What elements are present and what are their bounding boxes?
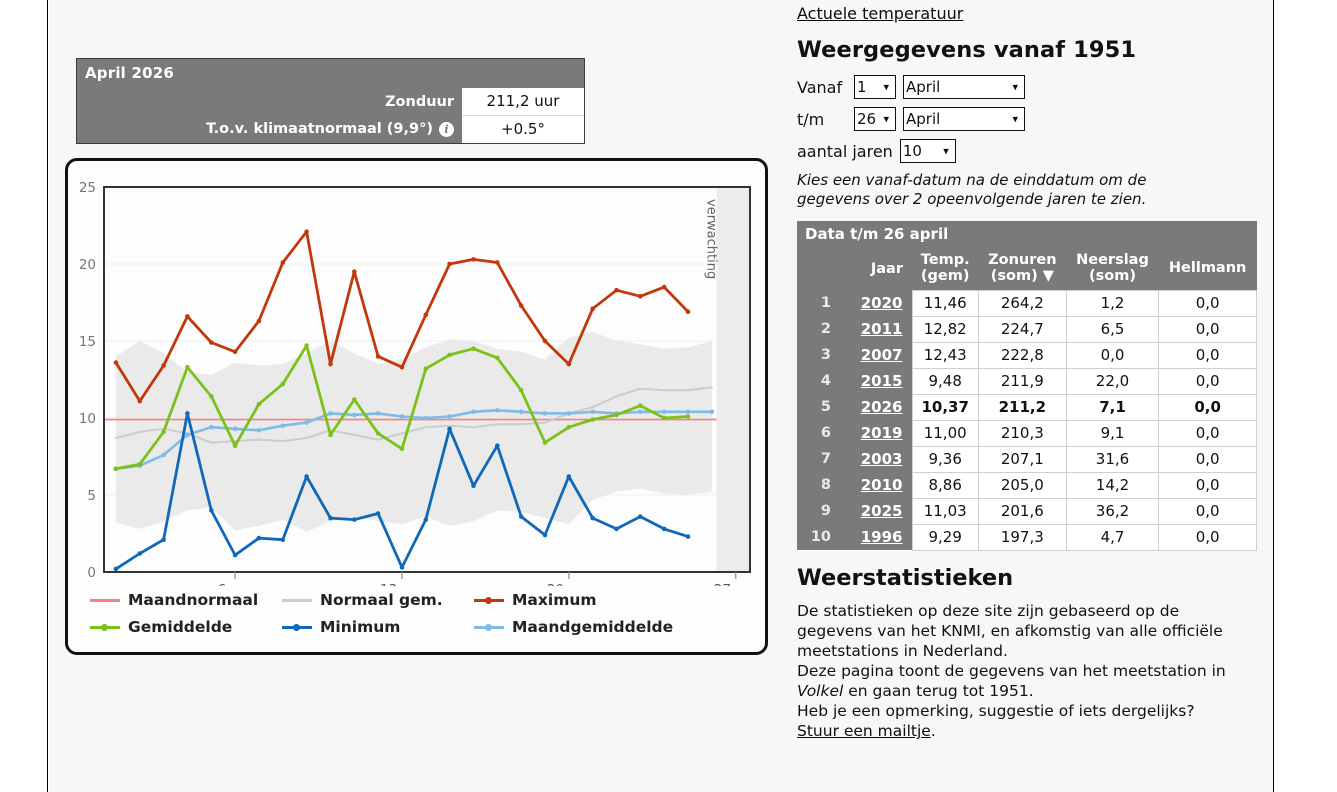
col-header-zonuren-line2-sorted: (som) ▼: [991, 268, 1054, 284]
chart-point-gemiddelde: [590, 417, 595, 422]
cell-zonuren: 197,3: [978, 524, 1066, 550]
summary-row-klimaatnormaal: T.o.v. klimaatnormaal (9,9°) i +0.5°: [77, 116, 584, 143]
col-header-zonuren-line1: Zonuren: [988, 252, 1056, 268]
legend-swatch-maximum: [474, 594, 504, 606]
chart-point-gemiddelde: [209, 394, 214, 399]
chart-point-maandgemiddelde: [590, 410, 595, 415]
legend-item-maandnormaal[interactable]: Maandnormaal: [90, 591, 282, 609]
col-header-temp-line2: (gem): [921, 268, 970, 284]
legend-label-minimum: Minimum: [320, 618, 400, 636]
summary-row-zonduur: Zonduur 211,2 uur: [77, 88, 584, 116]
cell-temp: 9,29: [912, 524, 978, 550]
chart-point-gemiddelde: [424, 366, 429, 371]
cell-zonuren: 264,2: [978, 290, 1066, 316]
heading-weerstatistieken: Weerstatistieken: [797, 565, 1267, 591]
chart-point-maximum: [257, 319, 262, 324]
col-header-neerslag[interactable]: Neerslag (som): [1066, 249, 1159, 290]
table-caption-row: Data t/m 26 april: [797, 221, 1257, 249]
table-row: 820108,86205,014,20,0: [797, 472, 1257, 498]
cell-hellmann: 0,0: [1159, 316, 1257, 342]
chart-point-maximum: [590, 306, 595, 311]
cell-rank: 2: [797, 316, 835, 342]
chart-point-minimum: [638, 514, 643, 519]
about-paragraph-3: Heb je een opmerking, suggestie of iets …: [797, 702, 1195, 720]
cell-zonuren: 222,8: [978, 342, 1066, 368]
chart-ytick-label: 25: [79, 180, 96, 196]
summary-label-zonduur: Zonduur: [77, 88, 462, 116]
cell-rank: 6: [797, 420, 835, 446]
chart-point-minimum: [471, 484, 476, 489]
cell-jaar: 2019: [835, 420, 912, 446]
chart-xtick-label: 6 apr: [217, 582, 253, 586]
weather-data-table: Data t/m 26 april Jaar Temp. (gem) Zonur…: [797, 221, 1257, 550]
chart-point-minimum: [185, 411, 190, 416]
cell-neerslag: 9,1: [1066, 420, 1159, 446]
info-icon[interactable]: i: [439, 122, 454, 137]
cell-rank: 8: [797, 472, 835, 498]
table-caption: Data t/m 26 april: [797, 221, 1257, 249]
chart-point-maandgemiddelde: [638, 410, 643, 415]
cell-temp: 11,03: [912, 498, 978, 524]
cell-neerslag: 7,1: [1066, 394, 1159, 420]
chart-point-maandgemiddelde: [710, 410, 715, 415]
chart-point-maximum: [495, 260, 500, 265]
cell-jaar: 2020: [835, 290, 912, 316]
chart-point-minimum: [424, 517, 429, 522]
chart-point-minimum: [161, 537, 166, 542]
chart-point-maximum: [638, 294, 643, 299]
cell-hellmann: 0,0: [1159, 446, 1257, 472]
select-vanaf-dag[interactable]: 1: [854, 75, 896, 99]
cell-rank: 5: [797, 394, 835, 420]
cell-temp: 11,46: [912, 290, 978, 316]
chart-point-maximum: [138, 399, 143, 404]
summary-label-zonduur-text: Zonduur: [385, 94, 454, 110]
summary-label-klimaatnormaal: T.o.v. klimaatnormaal (9,9°) i: [77, 116, 462, 143]
chart-point-maandgemiddelde: [257, 428, 262, 433]
chart-point-minimum: [614, 527, 619, 532]
chart-point-gemiddelde: [138, 462, 143, 467]
cell-jaar: 2010: [835, 472, 912, 498]
cell-temp: 9,36: [912, 446, 978, 472]
cell-neerslag: 4,7: [1066, 524, 1159, 550]
chart-point-gemiddelde: [114, 467, 119, 472]
legend-item-maandgemiddelde[interactable]: Maandgemiddelde: [474, 618, 674, 636]
chart-point-maandgemiddelde: [209, 425, 214, 430]
chart-point-minimum: [304, 474, 309, 479]
cell-jaar: 2011: [835, 316, 912, 342]
about-text: De statistieken op deze site zijn gebase…: [797, 601, 1257, 742]
cell-jaar: 2007: [835, 342, 912, 368]
legend-item-maximum[interactable]: Maximum: [474, 591, 674, 609]
select-wrap-vanaf-maand: April ▾: [903, 75, 1025, 99]
chart-point-maandgemiddelde: [567, 411, 572, 416]
cell-zonuren: 205,0: [978, 472, 1066, 498]
chart-xtick-label: 20 apr: [547, 582, 591, 586]
legend-label-maandnormaal: Maandnormaal: [128, 591, 258, 609]
chart-point-minimum: [352, 517, 357, 522]
about-paragraph-1: De statistieken op deze site zijn gebase…: [797, 602, 1223, 660]
table-row: 1202011,46264,21,20,0: [797, 290, 1257, 316]
table-body: 1202011,46264,21,20,02201112,82224,76,50…: [797, 290, 1257, 550]
chart-point-minimum: [567, 474, 572, 479]
legend-label-gemiddelde: Gemiddelde: [128, 618, 232, 636]
chart-point-maandgemiddelde: [233, 427, 238, 432]
chart-point-minimum: [281, 537, 286, 542]
cell-zonuren: 201,6: [978, 498, 1066, 524]
chart-point-gemiddelde: [376, 431, 381, 436]
cell-zonuren: 210,3: [978, 420, 1066, 446]
cell-temp: 10,37: [912, 394, 978, 420]
legend-swatch-normaal-gem: [282, 594, 312, 606]
about-paragraph-2-post: en gaan terug tot 1951.: [843, 682, 1033, 700]
cell-neerslag: 0,0: [1066, 342, 1159, 368]
link-jaar[interactable]: 2007: [861, 346, 903, 364]
chart-point-maandgemiddelde: [400, 414, 405, 419]
link-jaar[interactable]: 2011: [861, 320, 903, 338]
chart-ytick-label: 10: [79, 411, 96, 427]
col-header-temp-line1: Temp.: [921, 252, 970, 268]
table-row: 3200712,43222,80,00,0: [797, 342, 1257, 368]
link-jaar[interactable]: 2015: [861, 372, 903, 390]
chart-point-maximum: [424, 313, 429, 318]
chart-point-gemiddelde: [233, 443, 238, 448]
cell-hellmann: 0,0: [1159, 394, 1257, 420]
cell-temp: 12,82: [912, 316, 978, 342]
chart-point-maandgemiddelde: [471, 410, 476, 415]
chart-point-minimum: [495, 443, 500, 448]
chart-point-maximum: [161, 363, 166, 368]
legend-item-normaal-gem[interactable]: Normaal gem.: [282, 591, 474, 609]
link-actuele-temperatuur[interactable]: Actuele temperatuur: [797, 4, 963, 23]
forecast-label: verwachting: [704, 199, 719, 279]
cell-hellmann: 0,0: [1159, 368, 1257, 394]
cell-jaar: 2003: [835, 446, 912, 472]
legend-label-maandgemiddelde: Maandgemiddelde: [512, 618, 673, 636]
chart-point-maandgemiddelde: [686, 410, 691, 415]
chart-point-gemiddelde: [257, 402, 262, 407]
summary-title: April 2026: [77, 59, 584, 88]
chart-point-minimum: [233, 553, 238, 558]
label-vanaf: Vanaf: [797, 78, 854, 97]
chart-xtick-label: 13 apr: [380, 582, 424, 586]
table-row: 1019969,29197,34,70,0: [797, 524, 1257, 550]
page-root: April 2026 Zonduur 211,2 uur T.o.v. klim…: [0, 0, 1337, 792]
chart-point-maximum: [304, 229, 309, 234]
chart-point-minimum: [662, 527, 667, 532]
select-wrap-tm-maand: April ▾: [903, 107, 1025, 131]
chart-point-maandgemiddelde: [495, 408, 500, 413]
chart-point-maandgemiddelde: [161, 453, 166, 458]
chart-point-maximum: [567, 362, 572, 367]
summary-value-klimaatnormaal: +0.5°: [462, 116, 584, 143]
chart-point-maximum: [471, 257, 476, 262]
chart-point-minimum: [543, 533, 548, 538]
col-header-hellmann-label: Hellmann: [1169, 260, 1246, 276]
chart-point-maximum: [400, 365, 405, 370]
chart-point-maximum: [662, 285, 667, 290]
select-tm-maand[interactable]: April: [903, 107, 1025, 131]
table-row: 9202511,03201,636,20,0: [797, 498, 1257, 524]
chart-point-maandgemiddelde: [543, 411, 548, 416]
col-header-rank: [797, 249, 835, 290]
chart-point-maximum: [447, 262, 452, 267]
chart-point-gemiddelde: [662, 416, 667, 421]
legend-item-gemiddelde[interactable]: Gemiddelde: [90, 618, 282, 636]
table-row: 2201112,82224,76,50,0: [797, 316, 1257, 342]
chart-point-minimum: [328, 516, 333, 521]
table-row: 5202610,37211,27,10,0: [797, 394, 1257, 420]
chart-point-gemiddelde: [519, 388, 524, 393]
chart-point-maandgemiddelde: [328, 411, 333, 416]
chart-point-maximum: [376, 354, 381, 359]
chart-point-minimum: [519, 514, 524, 519]
chart-legend: Maandnormaal Normaal gem. Maximum Gemidd…: [90, 591, 740, 645]
chart-point-maandgemiddelde: [304, 420, 309, 425]
legend-label-normaal-gem: Normaal gem.: [320, 591, 443, 609]
cell-neerslag: 36,2: [1066, 498, 1159, 524]
chart-point-maandgemiddelde: [376, 411, 381, 416]
cell-jaar: 2026: [835, 394, 912, 420]
chart-point-gemiddelde: [471, 346, 476, 351]
cell-temp: 9,48: [912, 368, 978, 394]
chart-xtick-label: 27 apr: [714, 582, 758, 586]
chart-point-maximum: [328, 362, 333, 367]
chart-ytick-label: 5: [87, 488, 96, 504]
chart-point-maximum: [686, 309, 691, 314]
cell-neerslag: 31,6: [1066, 446, 1159, 472]
cell-hellmann: 0,0: [1159, 472, 1257, 498]
form-row-aantal-jaren: aantal jaren 10 ▾: [797, 139, 1267, 163]
link-jaar[interactable]: 2010: [861, 476, 903, 494]
summary-label-klimaatnormaal-text: T.o.v. klimaatnormaal (9,9°): [206, 121, 433, 137]
chart-point-maandgemiddelde: [447, 414, 452, 419]
cell-hellmann: 0,0: [1159, 342, 1257, 368]
chart-point-gemiddelde: [161, 430, 166, 435]
cell-rank: 10: [797, 524, 835, 550]
chart-point-maximum: [185, 314, 190, 319]
legend-label-maximum: Maximum: [512, 591, 597, 609]
chart-ytick-label: 15: [79, 334, 96, 350]
link-jaar[interactable]: 1996: [861, 528, 903, 546]
chart-point-maandgemiddelde: [519, 410, 524, 415]
chart-point-minimum: [376, 511, 381, 516]
table-row: 720039,36207,131,60,0: [797, 446, 1257, 472]
chart-point-maandgemiddelde: [424, 416, 429, 421]
chart-point-gemiddelde: [185, 365, 190, 370]
col-header-jaar[interactable]: Jaar: [835, 249, 912, 290]
link-jaar[interactable]: 2003: [861, 450, 903, 468]
chart-ytick-label: 20: [79, 257, 96, 273]
cell-zonuren: 207,1: [978, 446, 1066, 472]
cell-hellmann: 0,0: [1159, 290, 1257, 316]
cell-neerslag: 22,0: [1066, 368, 1159, 394]
content-area: April 2026 Zonduur 211,2 uur T.o.v. klim…: [49, 0, 1273, 792]
label-tm: t/m: [797, 110, 854, 129]
table-header-row: Jaar Temp. (gem) Zonuren (som) ▼ Neersla…: [797, 249, 1257, 290]
form-hint: Kies een vanaf-datum na de einddatum om …: [797, 171, 1177, 209]
legend-item-minimum[interactable]: Minimum: [282, 618, 474, 636]
legend-swatch-gemiddelde: [90, 621, 120, 633]
form-row-vanaf: Vanaf 1 ▾ April ▾: [797, 75, 1267, 99]
chart-point-maandgemiddelde: [281, 423, 286, 428]
chart-ytick-label: 0: [87, 565, 96, 581]
chart-point-gemiddelde: [447, 353, 452, 358]
col-header-jaar-label: Jaar: [871, 261, 903, 277]
right-column: Actuele temperatuur Weergegevens vanaf 1…: [797, 0, 1267, 742]
legend-swatch-maandnormaal: [90, 594, 120, 606]
select-aantal-jaren[interactable]: 10: [900, 139, 956, 163]
chart-point-gemiddelde: [638, 403, 643, 408]
link-jaar[interactable]: 2026: [861, 398, 903, 416]
select-wrap-tm-dag: 26 ▾: [854, 107, 896, 131]
forecast-region: [717, 187, 750, 572]
about-paragraph-2-pre: Deze pagina toont de gegevens van het me…: [797, 662, 1226, 680]
cell-rank: 1: [797, 290, 835, 316]
cell-jaar: 2025: [835, 498, 912, 524]
cell-hellmann: 0,0: [1159, 498, 1257, 524]
summary-value-zonduur: 211,2 uur: [462, 88, 584, 116]
chart-point-maandgemiddelde: [352, 413, 357, 418]
cell-zonuren: 211,2: [978, 394, 1066, 420]
chart-point-gemiddelde: [400, 447, 405, 452]
left-gutter: [0, 0, 48, 792]
chart-point-maandgemiddelde: [185, 433, 190, 438]
chart-point-gemiddelde: [328, 433, 333, 438]
col-header-temp[interactable]: Temp. (gem): [912, 249, 978, 290]
cell-rank: 9: [797, 498, 835, 524]
chart-point-maximum: [233, 350, 238, 355]
table-head: Data t/m 26 april Jaar Temp. (gem) Zonur…: [797, 221, 1257, 290]
cell-temp: 11,00: [912, 420, 978, 446]
cell-temp: 8,86: [912, 472, 978, 498]
about-station-name: Volkel: [797, 682, 843, 700]
chart-point-gemiddelde: [614, 413, 619, 418]
cell-temp: 12,43: [912, 342, 978, 368]
chart-point-gemiddelde: [686, 414, 691, 419]
chart-point-maandgemiddelde: [662, 410, 667, 415]
table-row: 6201911,00210,39,10,0: [797, 420, 1257, 446]
mail-link-suffix: .: [931, 722, 936, 740]
chart-point-gemiddelde: [281, 382, 286, 387]
temperature-chart-card: 05101520256 apr13 apr20 apr27 aprverwach…: [65, 158, 768, 655]
select-vanaf-maand[interactable]: April: [903, 75, 1025, 99]
cell-neerslag: 6,5: [1066, 316, 1159, 342]
select-wrap-vanaf-dag: 1 ▾: [854, 75, 896, 99]
chart-point-maximum: [543, 339, 548, 344]
cell-jaar: 2015: [835, 368, 912, 394]
chart-point-gemiddelde: [352, 397, 357, 402]
cell-neerslag: 1,2: [1066, 290, 1159, 316]
legend-swatch-minimum: [282, 621, 312, 633]
link-stuur-een-mailtje[interactable]: Stuur een mailtje: [797, 722, 931, 740]
col-header-neerslag-line1: Neerslag: [1076, 252, 1149, 268]
link-jaar[interactable]: 2019: [861, 424, 903, 442]
chart-point-gemiddelde: [495, 356, 500, 361]
label-aantal-jaren: aantal jaren: [797, 142, 893, 161]
link-jaar[interactable]: 2025: [861, 502, 903, 520]
cell-hellmann: 0,0: [1159, 524, 1257, 550]
chart-point-gemiddelde: [304, 343, 309, 348]
chart-point-minimum: [114, 567, 119, 572]
chart-point-minimum: [686, 534, 691, 539]
temperature-chart: 05101520256 apr13 apr20 apr27 aprverwach…: [68, 161, 765, 586]
form-row-tm: t/m 26 ▾ April ▾: [797, 107, 1267, 131]
chart-point-minimum: [400, 565, 405, 570]
cell-hellmann: 0,0: [1159, 420, 1257, 446]
col-header-zonuren[interactable]: Zonuren (som) ▼: [978, 249, 1066, 290]
cell-zonuren: 224,7: [978, 316, 1066, 342]
right-gutter: [1273, 0, 1337, 792]
chart-point-minimum: [209, 508, 214, 513]
cell-rank: 3: [797, 342, 835, 368]
col-header-neerslag-line2: (som): [1089, 268, 1136, 284]
chart-point-gemiddelde: [567, 425, 572, 430]
select-tm-dag[interactable]: 26: [854, 107, 896, 131]
chart-point-maximum: [614, 288, 619, 293]
cell-rank: 7: [797, 446, 835, 472]
table-row: 420159,48211,922,00,0: [797, 368, 1257, 394]
cell-neerslag: 14,2: [1066, 472, 1159, 498]
cell-jaar: 1996: [835, 524, 912, 550]
chart-point-minimum: [257, 536, 262, 541]
chart-point-minimum: [447, 427, 452, 432]
select-wrap-aantal-jaren: 10 ▾: [900, 139, 956, 163]
chart-point-gemiddelde: [543, 440, 548, 445]
legend-swatch-maandgemiddelde: [474, 621, 504, 633]
link-jaar[interactable]: 2020: [861, 294, 903, 312]
chart-point-maximum: [209, 340, 214, 345]
chart-point-maximum: [114, 360, 119, 365]
chart-point-maximum: [352, 269, 357, 274]
cell-rank: 4: [797, 368, 835, 394]
chart-point-minimum: [138, 551, 143, 556]
col-header-hellmann[interactable]: Hellmann: [1159, 249, 1257, 290]
month-summary-box: April 2026 Zonduur 211,2 uur T.o.v. klim…: [76, 58, 585, 144]
chart-point-minimum: [590, 516, 595, 521]
chart-point-maximum: [519, 303, 524, 308]
cell-zonuren: 211,9: [978, 368, 1066, 394]
chart-point-maximum: [281, 260, 286, 265]
heading-weergegevens: Weergegevens vanaf 1951: [797, 37, 1267, 63]
